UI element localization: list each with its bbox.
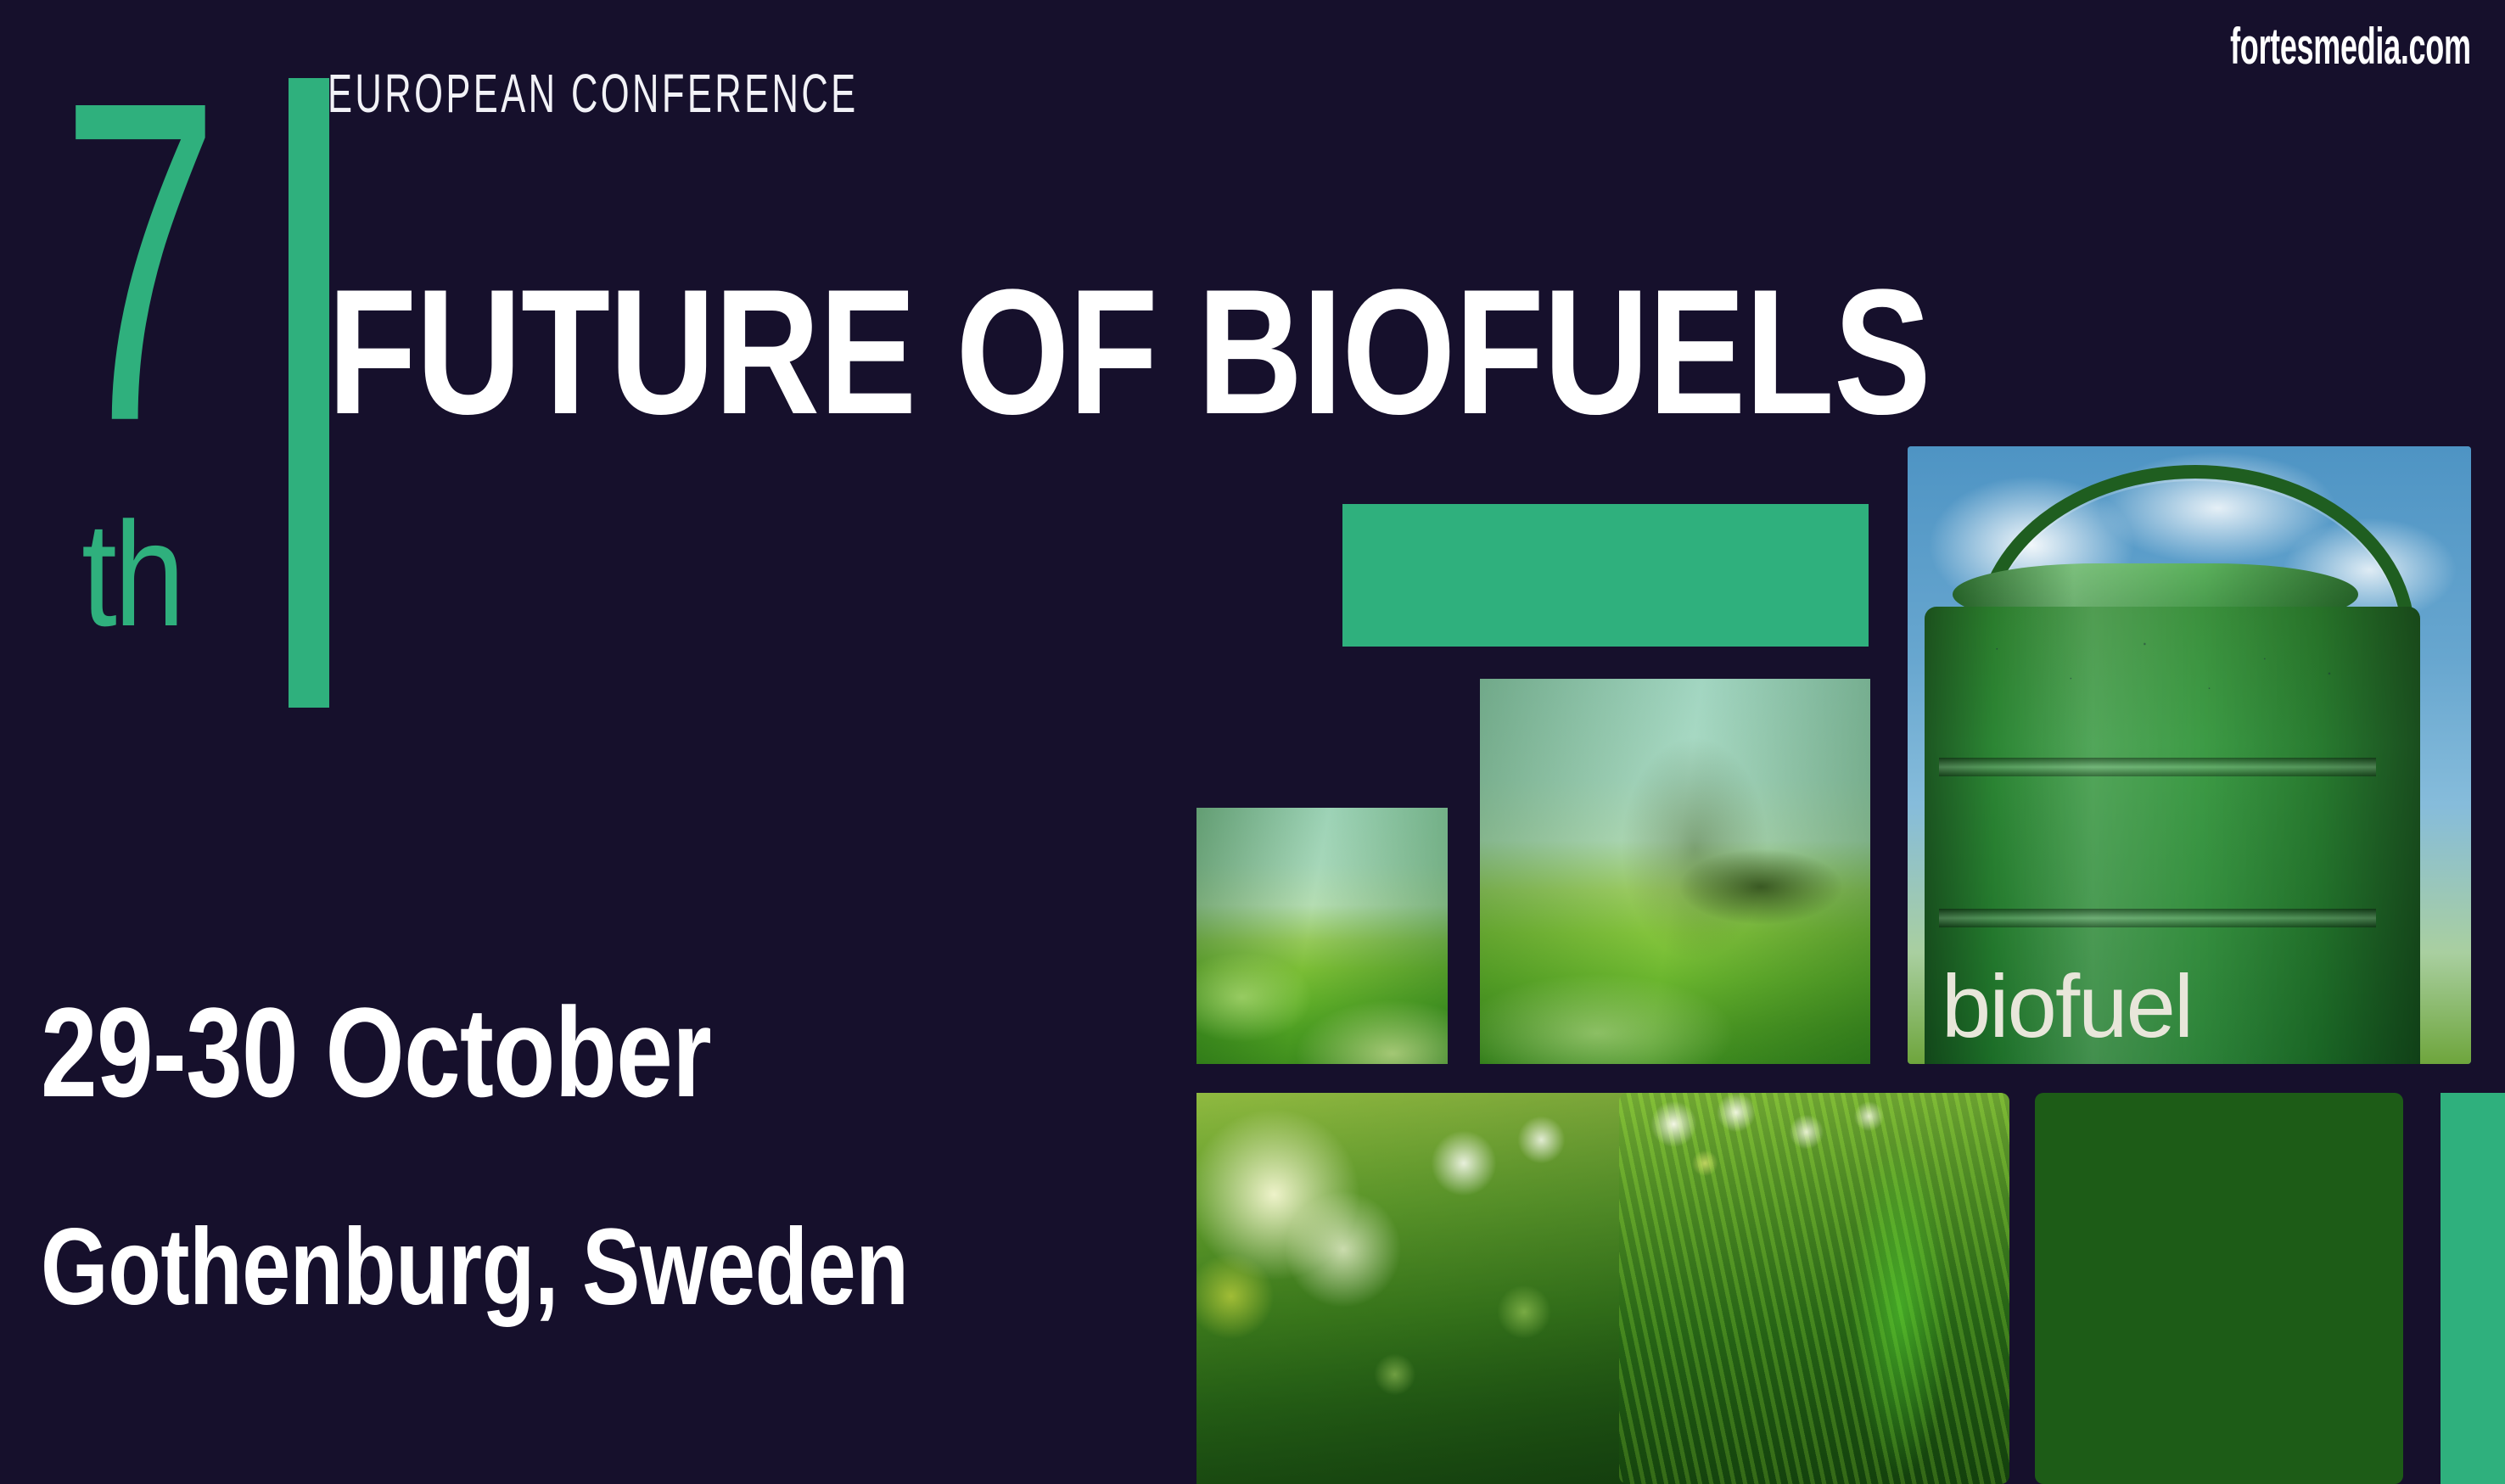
photo-grass-small — [1196, 808, 1448, 1064]
canister-speckle-texture — [1942, 619, 2403, 718]
photo-biofuel-canister: biofuel — [1908, 446, 2471, 1064]
accent-bar-right — [2441, 1093, 2505, 1484]
canister-ring-upper — [1939, 758, 2375, 776]
photo-grass-dark — [2035, 1093, 2403, 1484]
canister-ring-lower — [1939, 909, 2375, 927]
photo-meadow-bokeh — [1196, 1093, 1628, 1484]
photo-grass-tall — [1480, 679, 1870, 1064]
canister-label-text: biofuel — [1942, 962, 2192, 1051]
accent-block-top — [1342, 504, 1869, 647]
photo-collage: biofuel — [0, 0, 2505, 1484]
conference-banner: fortesmedia.com 7 th EUROPEAN CONFERENCE… — [0, 0, 2505, 1484]
photo-grass-daisies — [1619, 1093, 2009, 1484]
